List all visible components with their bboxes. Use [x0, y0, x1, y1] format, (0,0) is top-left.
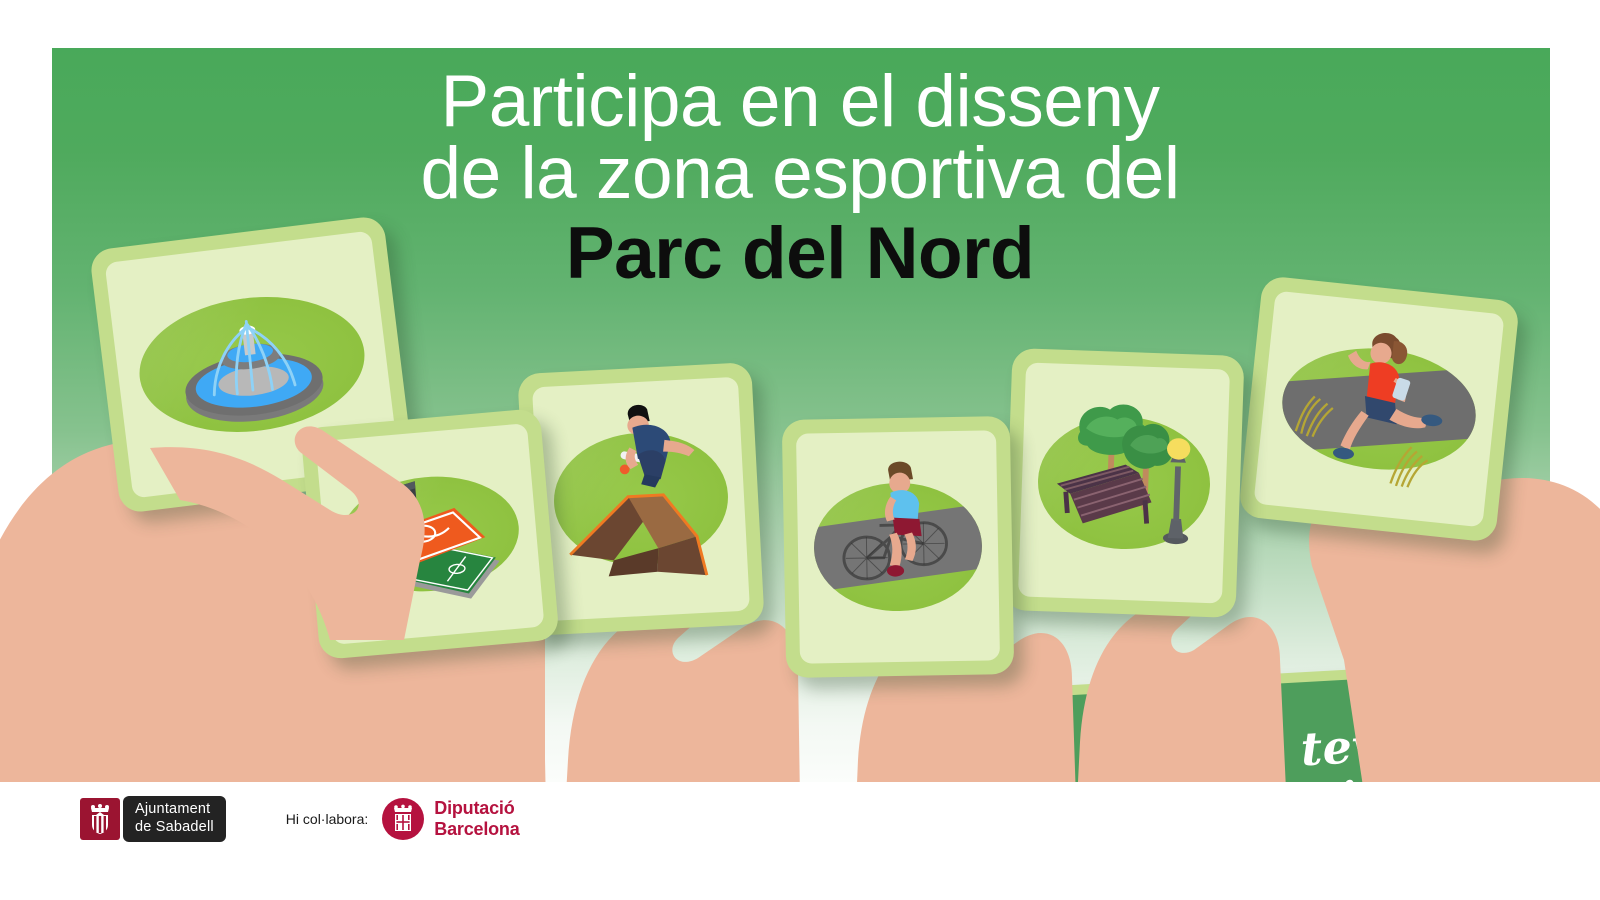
- runner-icon: [1253, 291, 1504, 528]
- collaborator-block: Hi col·labora:: [286, 798, 520, 841]
- card-bike[interactable]: [782, 416, 1014, 678]
- card-court[interactable]: [300, 408, 559, 660]
- grass-ellipse: [132, 285, 372, 444]
- ajuntament-line-2: de Sabadell: [135, 819, 214, 837]
- card-skate-face: [532, 377, 750, 621]
- card-runner-face: [1253, 291, 1504, 528]
- runner-figure: [1332, 329, 1450, 469]
- grass-tuft-icon: [1295, 395, 1334, 439]
- ajuntament-de-sabadell-logo[interactable]: Ajuntament de Sabadell: [80, 796, 226, 842]
- ajuntament-line-1: Ajuntament: [135, 801, 214, 819]
- logo-row: Ajuntament de Sabadell Hi col·labora:: [80, 796, 520, 842]
- card-court-face: [316, 423, 545, 645]
- grass-tuft-icon-2: [1390, 445, 1429, 489]
- card-bike-face: [796, 430, 1000, 663]
- sabadell-shield-icon: [80, 798, 120, 840]
- skater-figure: [616, 402, 696, 489]
- card-bench-face: [1018, 363, 1230, 604]
- sports-court-icon: [316, 423, 545, 645]
- card-runner[interactable]: [1238, 275, 1520, 543]
- skate-ramp-icon: [532, 377, 750, 621]
- poster-canvas: Participa en el disseny de la zona espor…: [0, 0, 1600, 900]
- diputacio-barcelona-logo[interactable]: Diputació Barcelona: [382, 798, 519, 841]
- fountain-icon: [132, 285, 372, 444]
- footer-bar: Ajuntament de Sabadell Hi col·labora:: [0, 782, 1600, 900]
- cyclist-icon: [796, 430, 1000, 663]
- collaborate-label: Hi col·labora:: [286, 811, 368, 827]
- diputacio-line-1: Diputació: [434, 798, 519, 820]
- bench-icon: [1056, 462, 1153, 526]
- park-bench-icon: [1018, 363, 1230, 604]
- diputacio-crest-icon: [382, 798, 424, 840]
- ajuntament-label: Ajuntament de Sabadell: [123, 796, 226, 842]
- card-bench[interactable]: [1003, 348, 1244, 618]
- diputacio-label: Diputació Barcelona: [434, 798, 519, 841]
- diputacio-line-2: Barcelona: [434, 819, 519, 841]
